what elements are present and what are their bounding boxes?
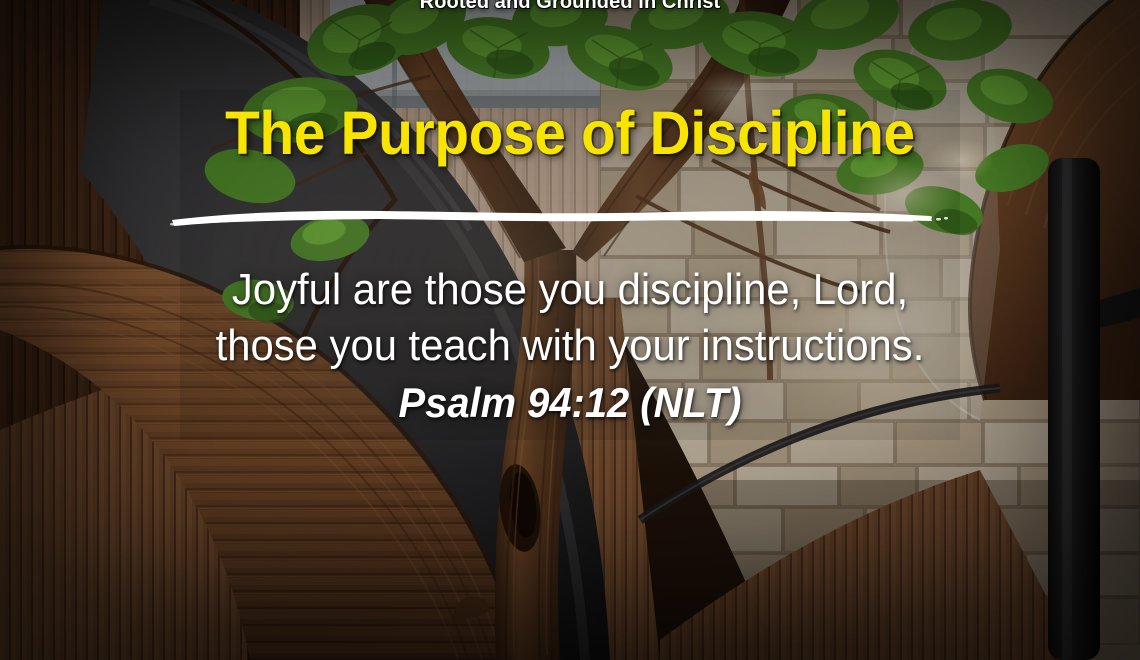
text-overlay: Rooted and Grounded in Christ The Purpos… <box>0 0 1140 660</box>
verse-line-1: Joyful are those you discipline, Lord, <box>29 262 1112 318</box>
verse-line-2: those you teach with your instructions. <box>29 318 1112 374</box>
slide-title: The Purpose of Discipline <box>40 103 1100 164</box>
brush-divider <box>170 196 950 240</box>
brush-divider-icon <box>170 196 950 240</box>
presentation-slide: Rooted and Grounded in Christ The Purpos… <box>0 0 1140 660</box>
verse-block: Joyful are those you discipline, Lord, t… <box>0 262 1140 430</box>
verse-reference: Psalm 94:12 (NLT) <box>29 376 1112 430</box>
slide-kicker: Rooted and Grounded in Christ <box>0 0 1140 14</box>
